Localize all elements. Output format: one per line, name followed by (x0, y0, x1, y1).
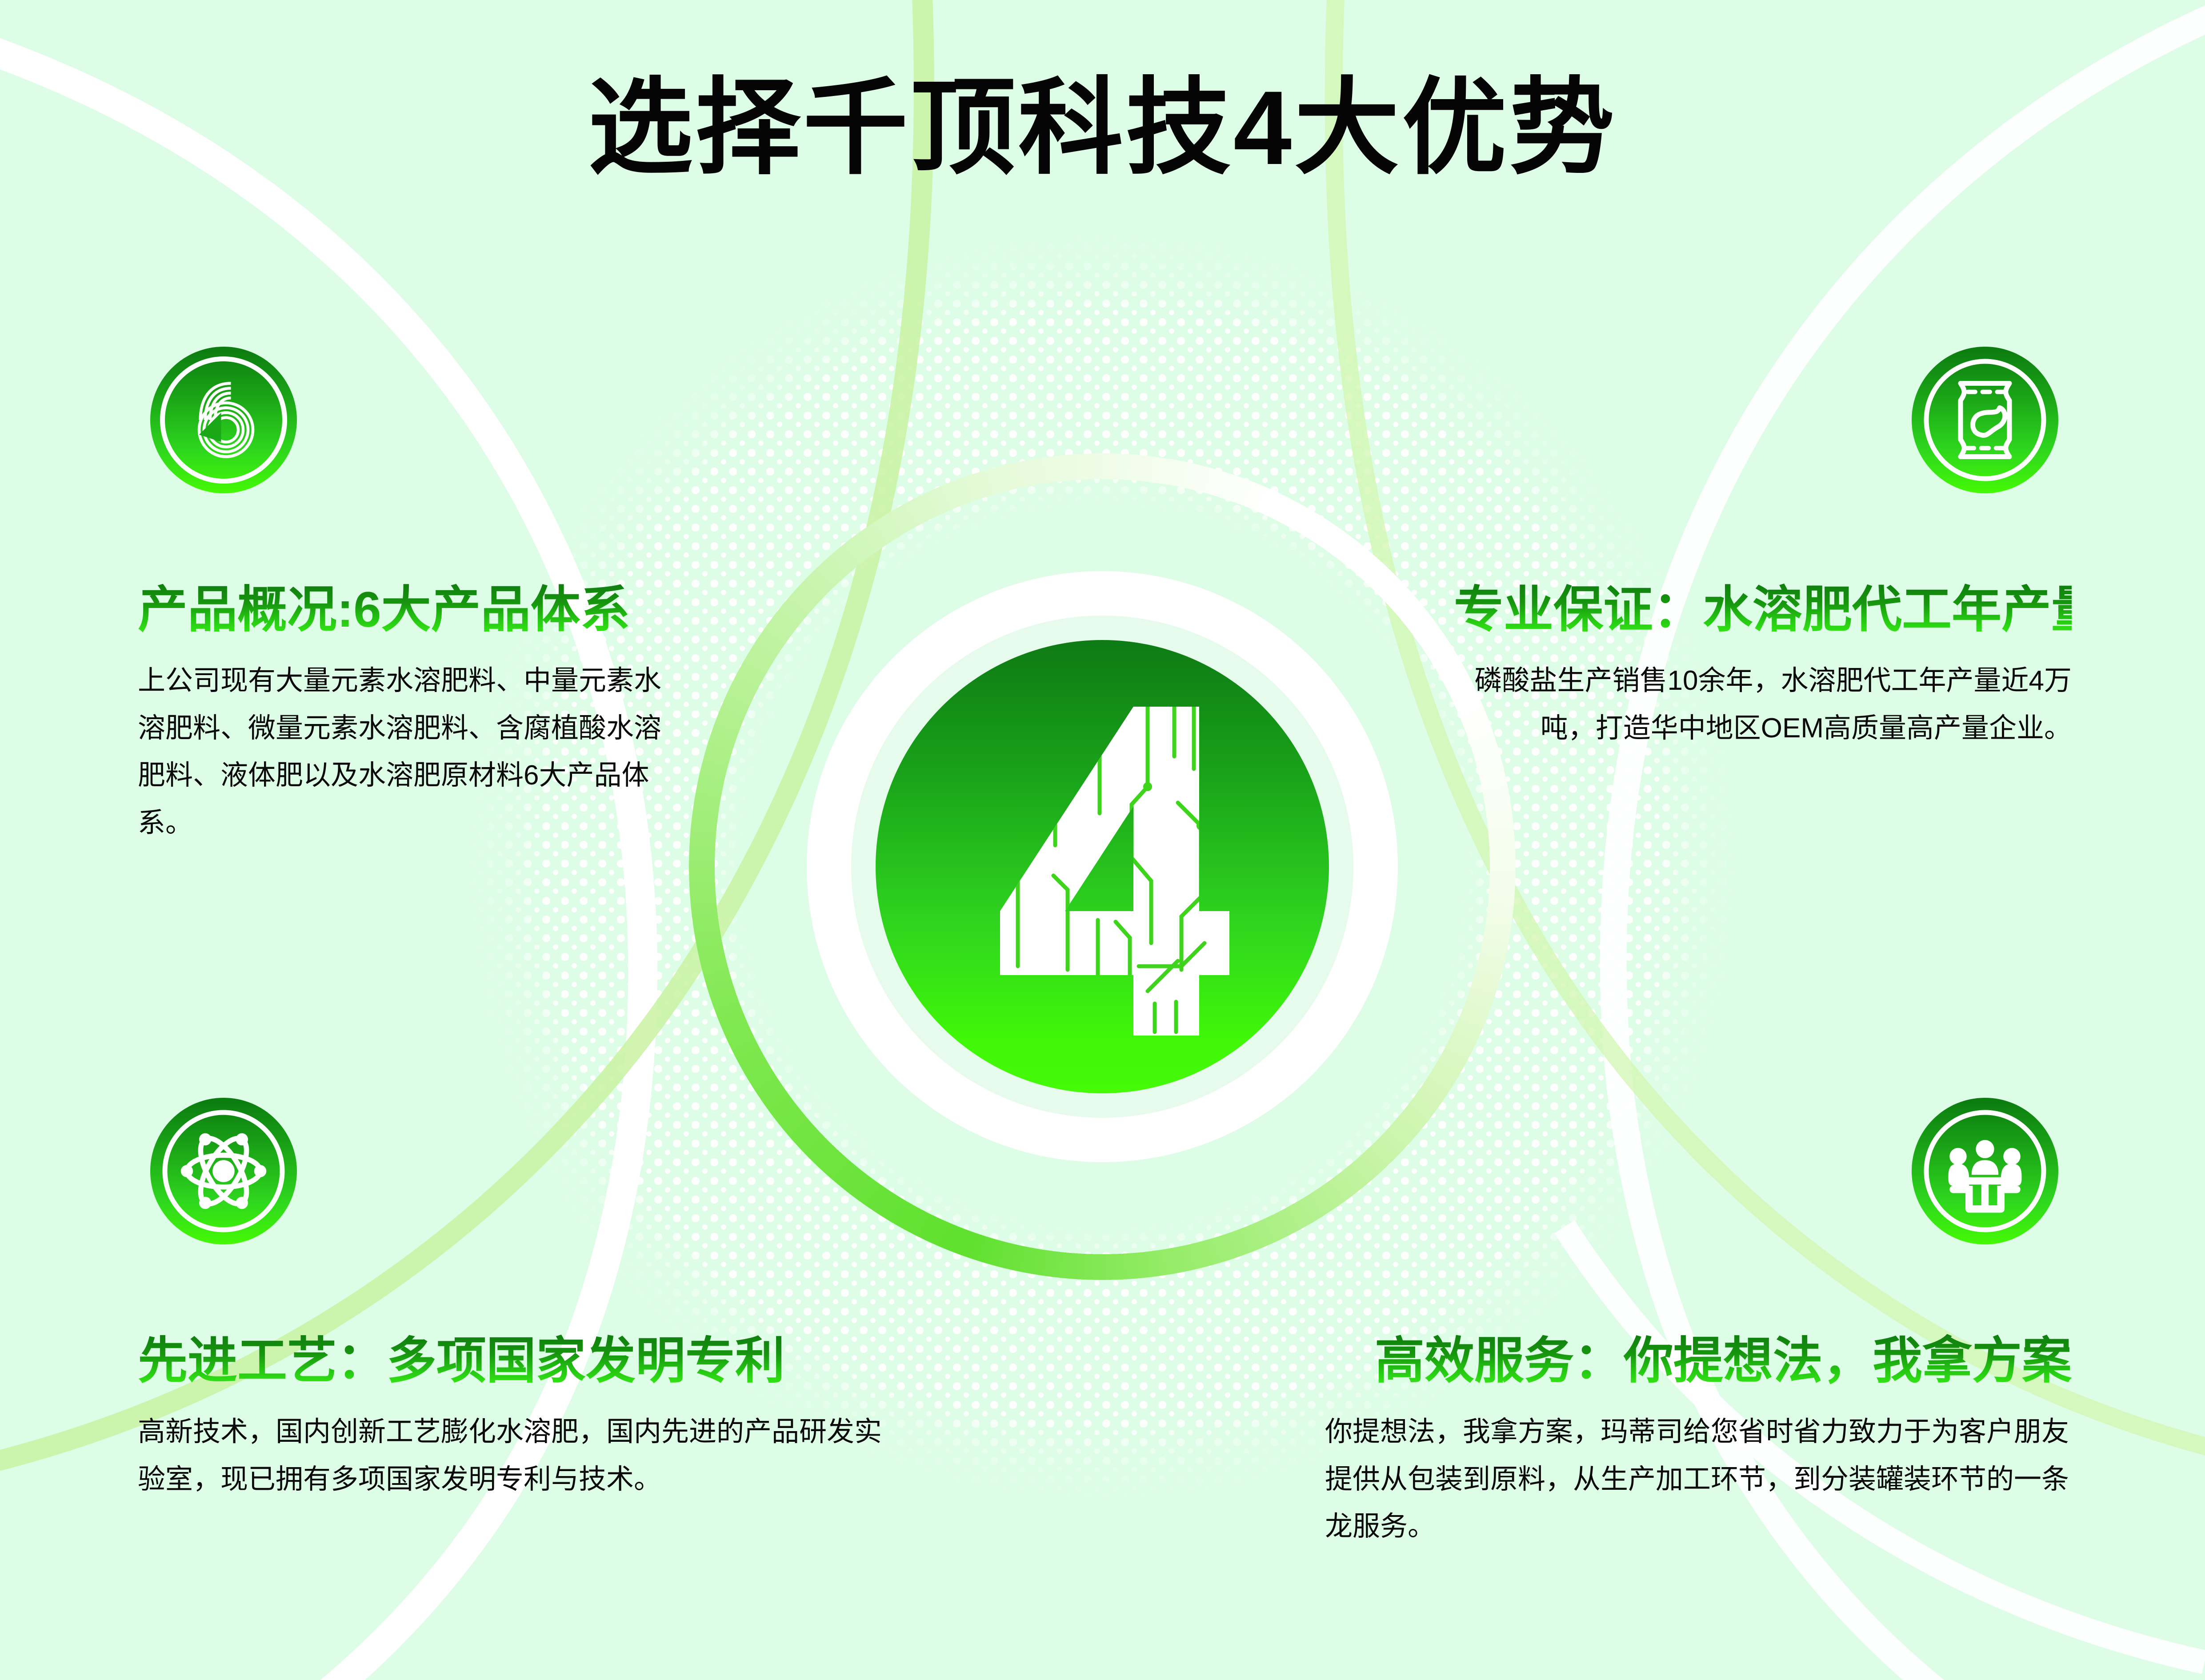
page-title: 选择千顶科技4大优势 (0, 76, 2205, 180)
number-four-tech-icon (964, 698, 1240, 1036)
number-six-icon (150, 347, 297, 493)
icon-wrap (138, 1098, 893, 1244)
center-core-circle (876, 640, 1329, 1093)
icon-wrap (138, 347, 707, 493)
advantage-card-top-left: 产品概况:6大产品体系 上公司现有大量元素水溶肥料、中量元素水溶肥料、微量元素水… (138, 347, 707, 847)
icon-wrap (1454, 347, 2072, 493)
icon-badge-capacity (1912, 347, 2058, 493)
card-headline: 专业保证：水溶肥代工年产量近4万吨 (1454, 582, 2072, 637)
advantage-card-bottom-right: 高效服务：你提想法，我拿方案 你提想法，我拿方案，玛蒂司给您省时省力致力于为客户… (1325, 1098, 2072, 1551)
card-headline: 先进工艺：多项国家发明专利 (138, 1333, 893, 1388)
card-headline: 产品概况:6大产品体系 (138, 582, 707, 637)
icon-wrap (1325, 1098, 2072, 1244)
card-body: 上公司现有大量元素水溶肥料、中量元素水溶肥料、微量元素水溶肥料、含腐植酸水溶肥料… (138, 657, 684, 847)
icon-badge-service (1912, 1098, 2058, 1244)
advantage-card-bottom-left: 先进工艺：多项国家发明专利 高新技术，国内创新工艺膨化水溶肥，国内先进的产品研发… (138, 1098, 893, 1503)
card-body: 磷酸盐生产销售10余年，水溶肥代工年产量近4万吨，打造华中地区OEM高质量高产量… (1454, 657, 2072, 752)
meeting-people-icon (1912, 1098, 2058, 1244)
card-body: 高新技术，国内创新工艺膨化水溶肥，国内先进的产品研发实验室，现已拥有多项国家发明… (138, 1408, 889, 1503)
card-body: 你提想法，我拿方案，玛蒂司给您省时省力致力于为客户朋友提供从包装到原料，从生产加… (1325, 1408, 2072, 1551)
advantage-card-top-right: 专业保证：水溶肥代工年产量近4万吨 磷酸盐生产销售10余年，水溶肥代工年产量近4… (1454, 347, 2072, 752)
atom-icon (150, 1098, 297, 1244)
icon-badge-technology (150, 1098, 297, 1244)
icon-badge-product-overview (150, 347, 297, 493)
fertilizer-bag-icon (1912, 347, 2058, 493)
card-headline: 高效服务：你提想法，我拿方案 (1325, 1333, 2072, 1388)
